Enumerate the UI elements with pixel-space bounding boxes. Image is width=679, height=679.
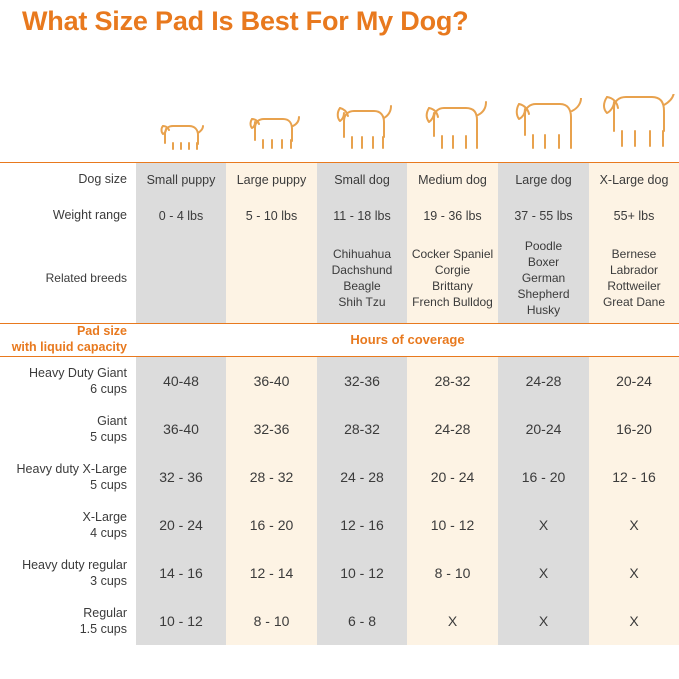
spacer-cell: [0, 92, 136, 163]
row-label-line1: Giant: [0, 413, 127, 429]
row-label-weight-range: Weight range: [0, 197, 136, 235]
cell-r2-c0: 32 - 36: [136, 453, 226, 501]
row-hours-of-coverage-header: Pad size with liquid capacity Hours of c…: [0, 323, 679, 356]
row-label-line2: 4 cups: [0, 525, 127, 541]
cell-r0-c5: 20-24: [589, 356, 679, 405]
cell-r4-c5: X: [589, 549, 679, 597]
row-label-xlarge: X-Large 4 cups: [0, 501, 136, 549]
size-chart-table: Dog size Small puppy Large puppy Small d…: [0, 92, 679, 645]
cell-r0-c0: 40-48: [136, 356, 226, 405]
cell-r3-c3: 10 - 12: [407, 501, 498, 549]
cell-r2-c4: 16 - 20: [498, 453, 589, 501]
cell-r3-c5: X: [589, 501, 679, 549]
page-title: What Size Pad Is Best For My Dog?: [22, 6, 468, 37]
cell-r0-c4: 24-28: [498, 356, 589, 405]
cell-weight-4: 19 - 36 lbs: [407, 197, 498, 235]
cell-weight-3: 11 - 18 lbs: [317, 197, 407, 235]
cell-dog-size-2: Large puppy: [226, 163, 317, 198]
row-label-heavy-duty-regular: Heavy duty regular 3 cups: [0, 549, 136, 597]
cell-r0-c1: 36-40: [226, 356, 317, 405]
table-row: Regular 1.5 cups 10 - 12 8 - 10 6 - 8 X …: [0, 597, 679, 645]
cell-r1-c2: 28-32: [317, 405, 407, 453]
dog-small-icon: [317, 92, 407, 163]
cell-r0-c2: 32-36: [317, 356, 407, 405]
cell-r2-c1: 28 - 32: [226, 453, 317, 501]
row-weight-range: Weight range 0 - 4 lbs 5 - 10 lbs 11 - 1…: [0, 197, 679, 235]
row-label-line1: Regular: [0, 605, 127, 621]
row-label-line1: Heavy duty regular: [0, 557, 127, 573]
row-label-heavy-duty-giant: Heavy Duty Giant 6 cups: [0, 356, 136, 405]
cell-r5-c3: X: [407, 597, 498, 645]
row-related-breeds: Related breeds ChihuahuaDachshundBeagleS…: [0, 235, 679, 323]
cell-r3-c2: 12 - 16: [317, 501, 407, 549]
row-label-heavy-duty-xlarge: Heavy duty X-Large 5 cups: [0, 453, 136, 501]
cell-r5-c4: X: [498, 597, 589, 645]
row-label-regular: Regular 1.5 cups: [0, 597, 136, 645]
row-label-related-breeds: Related breeds: [0, 235, 136, 323]
cell-r2-c2: 24 - 28: [317, 453, 407, 501]
cell-r5-c1: 8 - 10: [226, 597, 317, 645]
table-row: Giant 5 cups 36-40 32-36 28-32 24-28 20-…: [0, 405, 679, 453]
cell-breeds-1: [136, 235, 226, 323]
cell-r5-c0: 10 - 12: [136, 597, 226, 645]
cell-r3-c1: 16 - 20: [226, 501, 317, 549]
row-label-line2: 5 cups: [0, 429, 127, 445]
cell-breeds-5: PoodleBoxerGermanShepherdHusky: [498, 235, 589, 323]
hours-of-coverage-label: Hours of coverage: [136, 323, 679, 356]
pad-size-line2: with liquid capacity: [0, 340, 127, 356]
cell-r4-c3: 8 - 10: [407, 549, 498, 597]
row-label-line2: 6 cups: [0, 381, 127, 397]
table-row: X-Large 4 cups 20 - 24 16 - 20 12 - 16 1…: [0, 501, 679, 549]
cell-r1-c5: 16-20: [589, 405, 679, 453]
table-row: Heavy duty X-Large 5 cups 32 - 36 28 - 3…: [0, 453, 679, 501]
cell-dog-size-1: Small puppy: [136, 163, 226, 198]
cell-weight-5: 37 - 55 lbs: [498, 197, 589, 235]
cell-r1-c1: 32-36: [226, 405, 317, 453]
table-row: Heavy Duty Giant 6 cups 40-48 36-40 32-3…: [0, 356, 679, 405]
cell-r5-c5: X: [589, 597, 679, 645]
cell-weight-6: 55+ lbs: [589, 197, 679, 235]
cell-r4-c0: 14 - 16: [136, 549, 226, 597]
row-label-line2: 5 cups: [0, 477, 127, 493]
cell-breeds-2: [226, 235, 317, 323]
dog-silhouette-row: [0, 92, 679, 163]
infographic-page: What Size Pad Is Best For My Dog?: [0, 0, 679, 679]
cell-r0-c3: 28-32: [407, 356, 498, 405]
cell-r4-c1: 12 - 14: [226, 549, 317, 597]
cell-breeds-4: Cocker SpanielCorgieBrittanyFrench Bulld…: [407, 235, 498, 323]
cell-dog-size-6: X-Large dog: [589, 163, 679, 198]
dog-xlarge-icon: [589, 92, 679, 163]
cell-breeds-6: BerneseLabradorRottweilerGreat Dane: [589, 235, 679, 323]
cell-r5-c2: 6 - 8: [317, 597, 407, 645]
cell-r1-c0: 36-40: [136, 405, 226, 453]
cell-breeds-3: ChihuahuaDachshundBeagleShih Tzu: [317, 235, 407, 323]
cell-weight-2: 5 - 10 lbs: [226, 197, 317, 235]
cell-r4-c4: X: [498, 549, 589, 597]
row-label-line2: 1.5 cups: [0, 621, 127, 637]
row-label-line1: Heavy Duty Giant: [0, 365, 127, 381]
cell-r1-c4: 20-24: [498, 405, 589, 453]
row-label-pad-size: Pad size with liquid capacity: [0, 323, 136, 356]
row-label-line1: Heavy duty X-Large: [0, 461, 127, 477]
dog-large-puppy-icon: [226, 92, 317, 163]
row-label-line1: X-Large: [0, 509, 127, 525]
cell-r3-c4: X: [498, 501, 589, 549]
cell-r1-c3: 24-28: [407, 405, 498, 453]
row-dog-size: Dog size Small puppy Large puppy Small d…: [0, 163, 679, 198]
row-label-dog-size: Dog size: [0, 163, 136, 198]
size-chart: Dog size Small puppy Large puppy Small d…: [0, 92, 679, 645]
cell-r3-c0: 20 - 24: [136, 501, 226, 549]
cell-r2-c3: 20 - 24: [407, 453, 498, 501]
row-label-giant: Giant 5 cups: [0, 405, 136, 453]
cell-weight-1: 0 - 4 lbs: [136, 197, 226, 235]
dog-medium-icon: [407, 92, 498, 163]
cell-dog-size-5: Large dog: [498, 163, 589, 198]
cell-dog-size-4: Medium dog: [407, 163, 498, 198]
cell-r2-c5: 12 - 16: [589, 453, 679, 501]
table-row: Heavy duty regular 3 cups 14 - 16 12 - 1…: [0, 549, 679, 597]
row-label-line2: 3 cups: [0, 573, 127, 589]
dog-large-icon: [498, 92, 589, 163]
pad-size-line1: Pad size: [0, 324, 127, 340]
dog-small-puppy-icon: [136, 92, 226, 163]
cell-r4-c2: 10 - 12: [317, 549, 407, 597]
cell-dog-size-3: Small dog: [317, 163, 407, 198]
